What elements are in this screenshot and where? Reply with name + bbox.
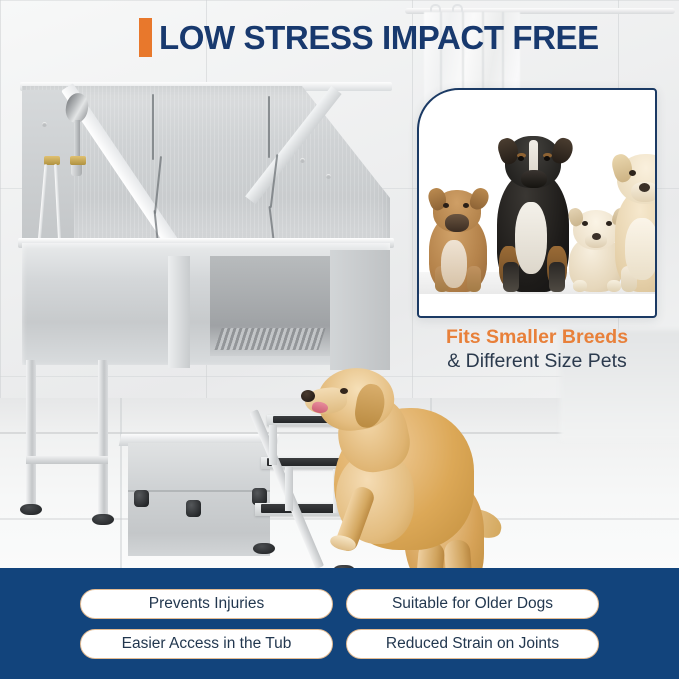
caster-wheel — [134, 490, 149, 507]
sprayer-neck — [75, 120, 80, 160]
tub-door-post — [168, 256, 190, 368]
dog-size-comparison-panel — [417, 88, 657, 318]
tub-leg — [26, 360, 36, 508]
dog-nose — [301, 390, 315, 402]
benefit-badge-reduced-strain-on-joints[interactable]: Reduced Strain on Joints — [346, 629, 599, 659]
caster-wheel — [186, 500, 201, 517]
product-photo — [0, 60, 430, 560]
benefit-badge-row-2: Easier Access in the Tub Reduced Strain … — [80, 629, 599, 659]
stair-leg — [269, 425, 277, 465]
tub-floor-grate — [214, 328, 325, 350]
caption-line-1: Fits Smaller Breeds — [417, 326, 657, 349]
caption-line-2: & Different Size Pets — [417, 350, 657, 373]
tub-leg — [98, 360, 108, 518]
headline-text: LOW STRESS IMPACT FREE — [159, 18, 599, 57]
headline-accent-bar — [139, 18, 152, 57]
rolling-cabinet — [128, 443, 270, 556]
leg-cross-rail — [26, 456, 108, 464]
benefits-footer: Prevents Injuries Suitable for Older Dog… — [0, 568, 679, 679]
adjustable-foot — [92, 514, 114, 525]
benefit-badge-row-1: Prevents Injuries Suitable for Older Dog… — [80, 589, 599, 619]
tub-right-wall — [330, 250, 390, 370]
product-marketing-image: LOW STRESS IMPACT FREE — [0, 0, 679, 679]
stair-leg — [285, 467, 293, 511]
benefit-badge-prevents-injuries[interactable]: Prevents Injuries — [80, 589, 333, 619]
cabinet-drawer-seam — [128, 490, 270, 492]
inset-caption: Fits Smaller Breeds & Different Size Pet… — [417, 326, 657, 373]
dog-eye — [340, 388, 348, 394]
headline: LOW STRESS IMPACT FREE — [139, 18, 599, 57]
adjustable-foot — [20, 504, 42, 515]
benefit-badge-suitable-for-older-dogs[interactable]: Suitable for Older Dogs — [346, 589, 599, 619]
stair-foot — [253, 543, 275, 554]
benefit-badge-easier-access-in-the-tub[interactable]: Easier Access in the Tub — [80, 629, 333, 659]
valve — [70, 156, 86, 165]
